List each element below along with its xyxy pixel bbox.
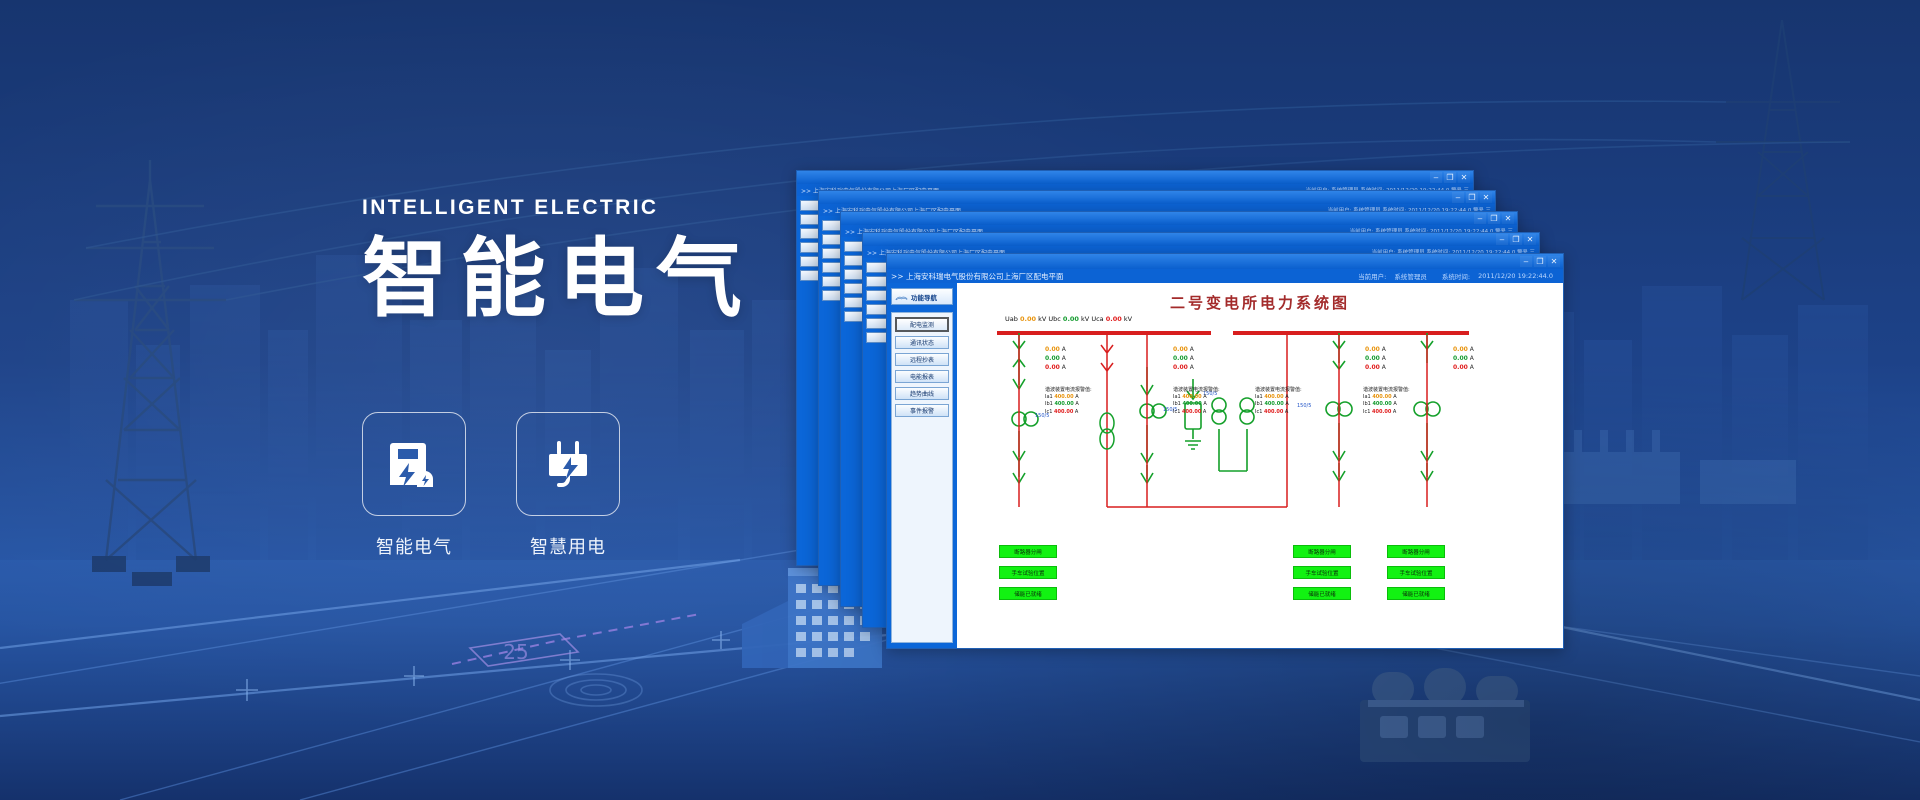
alarm-setting-title: 谐波装置电流报警值: [1045,387,1092,394]
feature-item-smart-power[interactable]: 智慧用电 [516,412,620,559]
ia-value: 0.00 [1045,346,1060,353]
window-titlebar: – ❐ ✕ [797,171,1473,184]
ib1-label: Ib1 [1173,401,1181,407]
app-title: >> 上海安科瑞电气股份有限公司上海厂区配电平面 [891,271,1063,282]
ia1-value: 400.00 [1372,394,1391,400]
nav-item-event-alarm[interactable]: 事件报警 [895,404,949,417]
function-nav-sidebar: 功能导航 配电监测 通讯状态 远程抄表 电能报表 [887,283,957,648]
ib-unit: A [1382,355,1386,362]
ib-value: 0.00 [1173,355,1188,362]
ia1-unit: A [1203,394,1206,400]
nav-item-trend-curve[interactable]: 趋势曲线 [895,387,949,400]
status-button-breaker-open[interactable]: 断路器分闸 [1293,545,1351,558]
status-button-label: 断路器分闸 [1308,548,1336,556]
ic1-value: 400.00 [1182,409,1201,415]
minimize-button[interactable]: – [1520,256,1532,267]
ib-unit: A [1190,355,1194,362]
ia1-unit: A [1075,394,1078,400]
function-nav-list: 配电监测 通讯状态 远程抄表 电能报表 趋势曲线 [891,312,953,643]
ic1-unit: A [1285,409,1288,415]
nav-item-label: 远程抄表 [910,355,934,364]
ic1-value: 400.00 [1372,409,1391,415]
ia-unit: A [1470,346,1474,353]
close-button[interactable]: ✕ [1524,234,1536,245]
hero-banner: 25 [0,0,1920,800]
status-button-label: 手车试验位置 [1011,569,1044,577]
minimize-button[interactable]: – [1496,234,1508,245]
nav-item-label: 趋势曲线 [910,389,934,398]
alarm-setting-title: 谐波装置电流报警值: [1173,387,1220,394]
ib-unit: A [1062,355,1066,362]
status-button-truck-test-position[interactable]: 手车试验位置 [999,566,1057,579]
maximize-button[interactable]: ❐ [1510,234,1522,245]
ic-value: 0.00 [1365,364,1380,371]
close-button[interactable]: ✕ [1502,213,1514,224]
status-button-breaker-open[interactable]: 断路器分闸 [999,545,1057,558]
feature-label: 智能电气 [362,533,466,559]
app-status-user-label: 当前用户: [1358,271,1386,281]
alarm-setting-title: 谐波装置电流报警值: [1363,387,1410,394]
nav-item-label: 电能报表 [910,372,934,381]
maximize-button[interactable]: ❐ [1444,172,1456,183]
status-button-breaker-open[interactable]: 断路器分闸 [1387,545,1445,558]
status-button-label: 储能已就绪 [1308,590,1336,598]
ib1-unit: A [1203,401,1206,407]
window-titlebar: – ❐ ✕ [819,191,1495,204]
ic1-label: Ic1 [1173,409,1180,415]
ic-unit: A [1190,364,1194,371]
maximize-button[interactable]: ❐ [1534,256,1546,267]
ib-value: 0.00 [1045,355,1060,362]
ic1-label: Ic1 [1045,409,1052,415]
app-status-time: 2011/12/20 19:22:44.0 [1478,272,1553,280]
minimize-button[interactable]: – [1452,192,1464,203]
current-readout-bay1: 0.00 A 0.00 A 0.00 A [1045,345,1066,372]
minimize-button[interactable]: – [1474,213,1486,224]
ia1-value: 400.00 [1264,394,1283,400]
status-button-label: 手车试验位置 [1305,569,1338,577]
nav-item-label: 事件报警 [910,406,934,415]
maximize-button[interactable]: ❐ [1466,192,1478,203]
feature-icon-frame [516,412,620,516]
charging-meter-icon [385,435,443,493]
current-readout-bay4: 0.00 A 0.00 A 0.00 A [1453,345,1474,372]
ib-unit: A [1470,355,1474,362]
ib1-value: 400.00 [1182,401,1201,407]
ib1-unit: A [1285,401,1288,407]
app-window-active[interactable]: – ❐ ✕ >> 上海安科瑞电气股份有限公司上海厂区配电平面 当前用户: 系统管… [886,253,1564,649]
close-button[interactable]: ✕ [1548,256,1560,267]
ia1-label: Ia1 [1173,394,1181,400]
nav-item-label: 通讯状态 [910,338,934,347]
ia-unit: A [1190,346,1194,353]
ib1-label: Ib1 [1255,401,1263,407]
nav-item-energy-report[interactable]: 电能报表 [895,370,949,383]
ia1-unit: A [1285,394,1288,400]
ic1-label: Ic1 [1363,409,1370,415]
alarm-setting-block-bay2: 谐波装置电流报警值: Ia1 400.00 A Ib1 400.00 A Ic1… [1173,387,1220,416]
ic-unit: A [1470,364,1474,371]
app-status-user: 系统管理员 [1394,271,1427,281]
current-readout-bay3: 0.00 A 0.00 A 0.00 A [1365,345,1386,372]
status-button-label: 储能已就绪 [1402,590,1430,598]
alarm-setting-title: 谐波装置电流报警值: [1255,387,1302,394]
ia1-value: 400.00 [1182,394,1201,400]
ia1-value: 400.00 [1054,394,1073,400]
maximize-button[interactable]: ❐ [1488,213,1500,224]
ic-unit: A [1062,364,1066,371]
function-nav-title: 功能导航 [911,292,937,302]
status-button-label: 断路器分闸 [1402,548,1430,556]
feature-icon-frame [362,412,466,516]
close-button[interactable]: ✕ [1458,172,1470,183]
scada-diagram[interactable]: 二号变电所电力系统图 Uab 0.00 kV Ubc 0.00 kV Uca 0… [957,283,1563,648]
app-status-time-label: 系统时间: [1442,271,1470,281]
app-header: >> 上海安科瑞电气股份有限公司上海厂区配电平面 当前用户: 系统管理员 系统时… [887,269,1563,283]
window-titlebar: – ❐ ✕ [863,233,1539,246]
ia1-unit: A [1393,394,1396,400]
ia-unit: A [1382,346,1386,353]
close-button[interactable]: ✕ [1480,192,1492,203]
ib1-unit: A [1393,401,1396,407]
ib1-unit: A [1075,401,1078,407]
ib1-label: Ib1 [1045,401,1053,407]
ic1-unit: A [1075,409,1078,415]
ia1-label: Ia1 [1045,394,1053,400]
ia-unit: A [1062,346,1066,353]
ib-value: 0.00 [1365,355,1380,362]
status-button-label: 手车试验位置 [1399,569,1432,577]
alarm-setting-block-bay3: 谐波装置电流报警值: Ia1 400.00 A Ib1 400.00 A Ic1… [1255,387,1302,416]
feature-list: 智能电气 智慧用电 [362,412,620,559]
status-button-truck-test-position[interactable]: 手车试验位置 [1293,566,1351,579]
ic-value: 0.00 [1045,364,1060,371]
ic1-value: 400.00 [1054,409,1073,415]
ia-value: 0.00 [1365,346,1380,353]
status-button-energy-storage-ready[interactable]: 储能已就绪 [1293,587,1351,600]
ia-value: 0.00 [1173,346,1188,353]
window-titlebar: – ❐ ✕ [887,254,1563,269]
ib1-value: 400.00 [1372,401,1391,407]
power-plug-bolt-icon [539,435,597,493]
status-button-energy-storage-ready[interactable]: 储能已就绪 [1387,587,1445,600]
ib1-value: 400.00 [1264,401,1283,407]
app-body: 功能导航 配电监测 通讯状态 远程抄表 电能报表 [887,283,1563,648]
ia-value: 0.00 [1453,346,1468,353]
nav-item-comm-status[interactable]: 通讯状态 [895,336,949,349]
ia1-label: Ia1 [1363,394,1371,400]
function-nav-header: 功能导航 [891,288,953,305]
current-readout-bay2: 0.00 A 0.00 A 0.00 A [1173,345,1194,372]
ic1-label: Ic1 [1255,409,1262,415]
nav-item-remote-meter-reading[interactable]: 远程抄表 [895,353,949,366]
status-button-truck-test-position[interactable]: 手车试验位置 [1387,566,1445,579]
ic-value: 0.00 [1173,364,1188,371]
feature-label: 智慧用电 [516,533,620,559]
ic1-value: 400.00 [1264,409,1283,415]
status-button-label: 断路器分闸 [1014,548,1042,556]
alarm-setting-block-bay4: 谐波装置电流报警值: Ia1 400.00 A Ib1 400.00 A Ic1… [1363,387,1410,416]
ic1-unit: A [1203,409,1206,415]
ib1-label: Ib1 [1363,401,1371,407]
window-titlebar: – ❐ ✕ [841,212,1517,225]
ib1-value: 400.00 [1054,401,1073,407]
ib-value: 0.00 [1453,355,1468,362]
minimize-button[interactable]: – [1430,172,1442,183]
book-icon [895,293,908,301]
ic-unit: A [1382,364,1386,371]
ia1-label: Ia1 [1255,394,1263,400]
status-button-label: 储能已就绪 [1014,590,1042,598]
status-button-energy-storage-ready[interactable]: 储能已就绪 [999,587,1057,600]
alarm-setting-block-bay1: 谐波装置电流报警值: Ia1 400.00 A Ib1 400.00 A Ic1… [1045,387,1092,416]
ic-value: 0.00 [1453,364,1468,371]
ic1-unit: A [1393,409,1396,415]
nav-item-power-monitor[interactable]: 配电监测 [895,317,949,332]
nav-item-label: 配电监测 [910,320,934,329]
feature-item-intelligent-electric[interactable]: 智能电气 [362,412,466,559]
